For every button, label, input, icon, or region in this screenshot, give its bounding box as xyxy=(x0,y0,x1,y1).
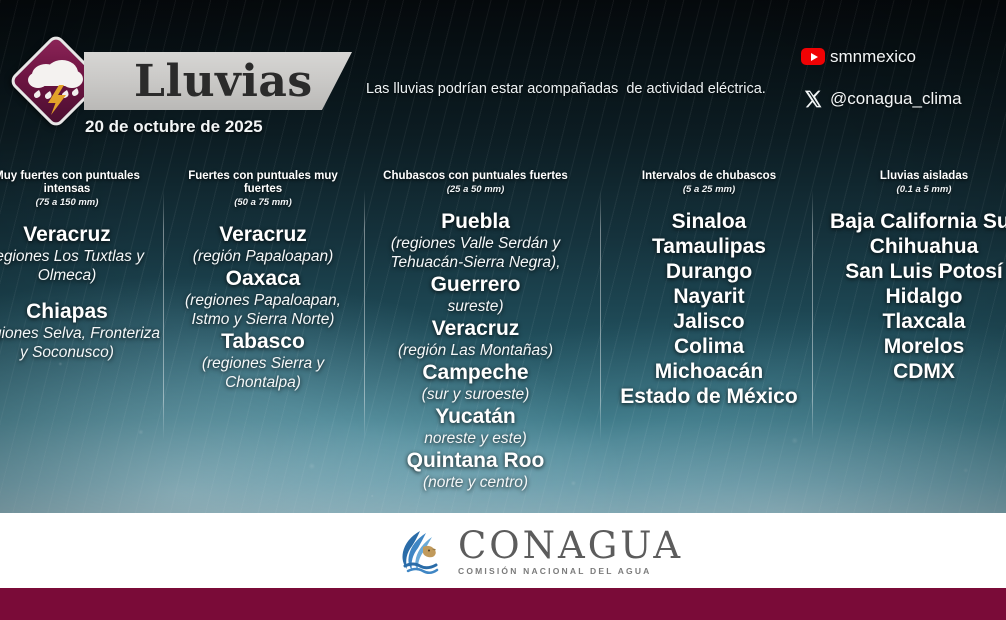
state-name: Tabasco xyxy=(173,329,353,354)
column-range: (25 a 50 mm) xyxy=(374,184,577,195)
state-region: (norte y centro) xyxy=(374,473,577,492)
state-region: (región Papaloapan) xyxy=(173,247,353,266)
page-title: Lluvias xyxy=(134,54,354,110)
state-name: Tlaxcala xyxy=(824,309,1006,334)
conagua-logo: CONAGUA COMISIÓN NACIONAL DEL AGUA xyxy=(396,524,683,578)
column-divider xyxy=(600,190,601,440)
state-name: Nayarit xyxy=(613,284,805,309)
youtube-handle: smnmexico xyxy=(830,47,916,67)
infographic-root: Lluvias 20 de octubre de 2025 Las lluvia… xyxy=(0,0,1006,620)
x-twitter-link[interactable]: @conagua_clima xyxy=(796,83,1006,114)
state-region: noreste y este) xyxy=(374,429,577,448)
youtube-link[interactable]: smnmexico xyxy=(796,41,1006,72)
state-name: Tamaulipas xyxy=(613,234,805,259)
state-name: Oaxaca xyxy=(173,266,353,291)
state-region: (regiones Sierra y Chontalpa) xyxy=(173,354,353,392)
column-muy-fuertes: Muy fuertes con puntuales intensas (75 a… xyxy=(0,170,162,362)
state-name: Chiapas xyxy=(0,299,162,324)
state-name: CDMX xyxy=(824,359,1006,384)
column-aisladas: Lluvias aisladas (0.1 a 5 mm) Baja Calif… xyxy=(824,170,1006,384)
state-region: (sur y suroeste) xyxy=(374,385,577,404)
state-name: Sinaloa xyxy=(613,209,805,234)
column-divider xyxy=(163,190,164,440)
column-range: (75 a 150 mm) xyxy=(0,197,162,208)
conagua-eagle-water-logo xyxy=(396,525,448,577)
state-name: Jalisco xyxy=(613,309,805,334)
state-name: Michoacán xyxy=(613,359,805,384)
state-name: San Luis Potosí xyxy=(824,259,1006,284)
column-heading: Fuertes con puntuales muy fuertes xyxy=(173,170,353,196)
column-heading: Lluvias aisladas xyxy=(824,170,1006,183)
state-region: (regiones Selva, Fronteriza y Soconusco) xyxy=(0,324,162,362)
state-name: Baja California Sur xyxy=(824,209,1006,234)
state-name: Guerrero xyxy=(374,272,577,297)
column-heading: Intervalos de chubascos xyxy=(613,170,805,183)
x-handle: @conagua_clima xyxy=(830,89,962,109)
column-heading: Chubascos con puntuales fuertes xyxy=(374,170,577,183)
state-name: Veracruz xyxy=(0,222,162,247)
state-region: (regiones Valle Serdán y Tehuacán-Sierra… xyxy=(374,234,577,272)
column-heading: Muy fuertes con puntuales intensas xyxy=(0,170,162,196)
logo-subtitle: COMISIÓN NACIONAL DEL AGUA xyxy=(458,566,683,576)
state-name: Quintana Roo xyxy=(374,448,577,473)
state-name: Colima xyxy=(613,334,805,359)
state-region: (región Las Montañas) xyxy=(374,341,577,360)
column-divider xyxy=(364,190,365,440)
state-region: (regiones Papaloapan, Istmo y Sierra Nor… xyxy=(173,291,353,329)
column-range: (5 a 25 mm) xyxy=(613,184,805,195)
footer-accent-bar xyxy=(0,588,1006,620)
column-intervalos: Intervalos de chubascos (5 a 25 mm) Sina… xyxy=(613,170,805,409)
tagline-text: Las lluvias podrían estar acompañadas de… xyxy=(366,81,826,97)
forecast-date: 20 de octubre de 2025 xyxy=(85,117,263,137)
x-twitter-icon xyxy=(796,89,830,109)
state-name: Morelos xyxy=(824,334,1006,359)
column-range: (50 a 75 mm) xyxy=(173,197,353,208)
social-links: smnmexico @conagua_clima xyxy=(796,41,1006,125)
column-range: (0.1 a 5 mm) xyxy=(824,184,1006,195)
state-name: Puebla xyxy=(374,209,577,234)
column-fuertes: Fuertes con puntuales muy fuertes (50 a … xyxy=(173,170,353,392)
youtube-icon xyxy=(796,48,830,65)
column-divider xyxy=(812,190,813,440)
state-name: Yucatán xyxy=(374,404,577,429)
state-region: regiones Los Tuxtlas y Olmeca) xyxy=(0,247,162,285)
state-name: Estado de México xyxy=(613,384,805,409)
state-name: Campeche xyxy=(374,360,577,385)
state-name: Chihuahua xyxy=(824,234,1006,259)
state-region: sureste) xyxy=(374,297,577,316)
logo-name: CONAGUA xyxy=(458,527,683,565)
state-name: Durango xyxy=(613,259,805,284)
state-name: Hidalgo xyxy=(824,284,1006,309)
forecast-columns: Muy fuertes con puntuales intensas (75 a… xyxy=(0,170,1006,505)
state-name: Veracruz xyxy=(173,222,353,247)
state-name: Veracruz xyxy=(374,316,577,341)
column-chubascos-fuertes: Chubascos con puntuales fuertes (25 a 50… xyxy=(374,170,577,492)
